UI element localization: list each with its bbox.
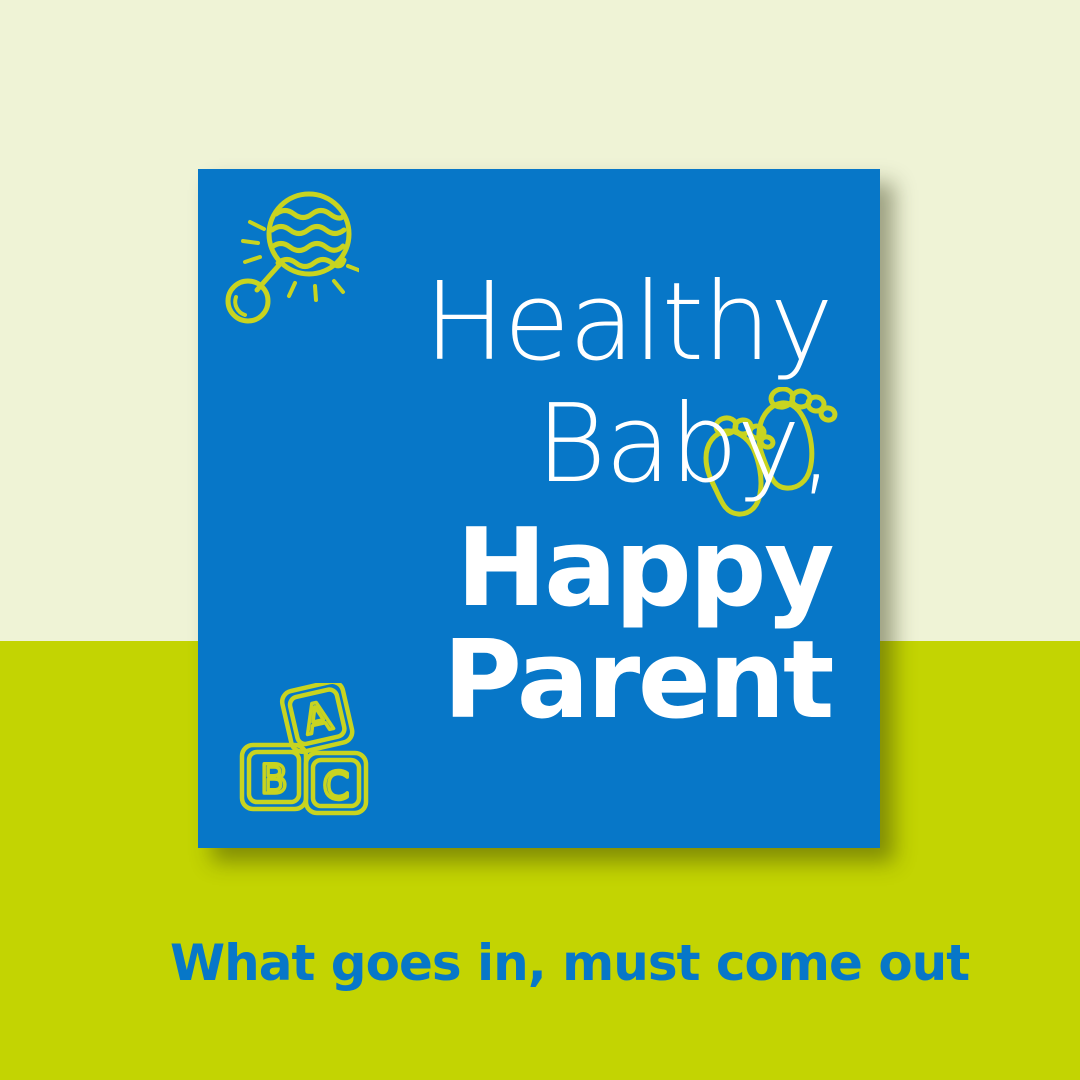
caption-text: What goes in, must come out (170, 934, 970, 992)
block-c: C (306, 753, 366, 813)
blue-card: A B C Healthy Baby, Happy Parent (198, 169, 880, 848)
headline-line-baby: Baby, (238, 391, 832, 499)
block-b: B (242, 745, 306, 809)
poster-canvas: A B C Healthy Baby, Happy Parent What go… (0, 0, 1080, 1080)
headline-block: Healthy Baby, Happy Parent (238, 269, 832, 737)
headline-line-healthy: Healthy (238, 269, 832, 377)
headline-line-parent: Parent (238, 627, 832, 735)
block-letter-b: B (260, 757, 287, 803)
headline-line-happy: Happy (238, 515, 832, 623)
block-letter-c: C (323, 764, 350, 808)
